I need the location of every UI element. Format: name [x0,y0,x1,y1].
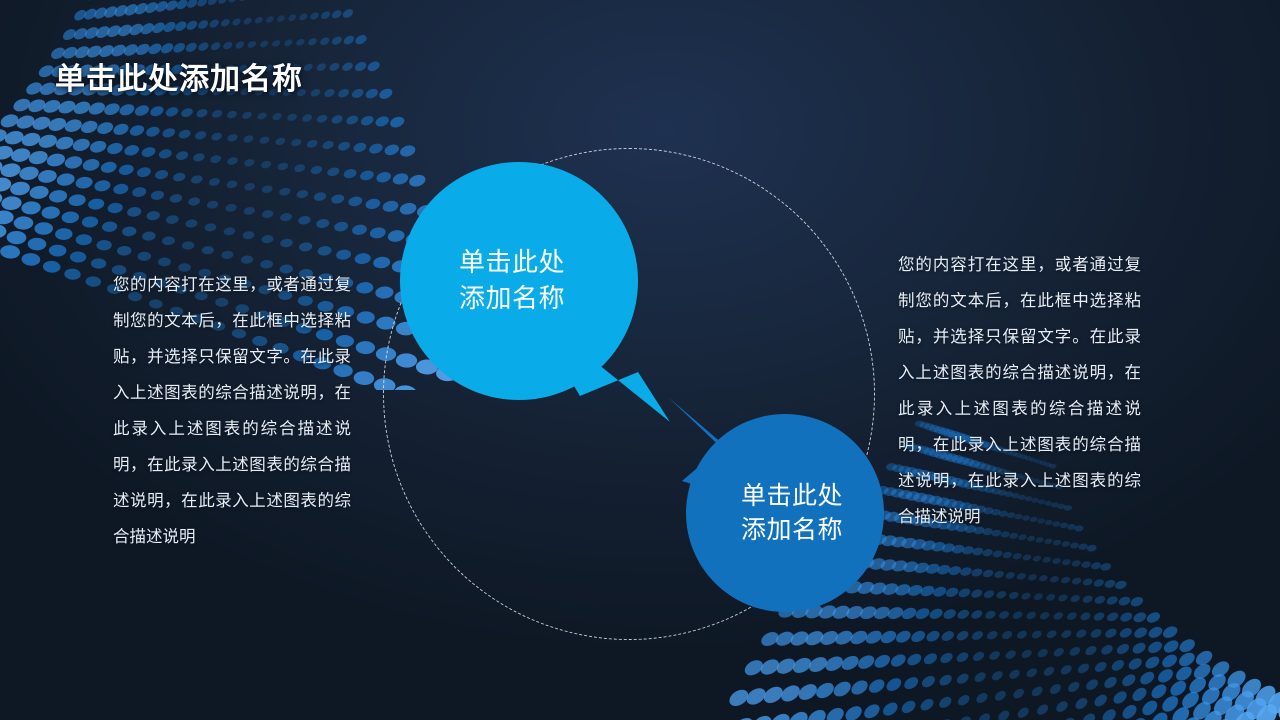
body-paragraph-left[interactable]: 您的内容打在这里，或者通过复制您的文本后，在此框中选择粘贴，并选择只保留文字。在… [113,268,351,556]
speech-bubble-secondary-body: 单击此处 添加名称 [686,414,884,612]
speech-bubble-secondary-line2: 添加名称 [727,513,843,548]
speech-bubble-secondary-line1: 单击此处 [727,479,843,514]
speech-bubble-primary-line2: 添加名称 [459,281,579,317]
page-title: 单击此处添加名称 [55,54,303,98]
speech-bubble-primary-body: 单击此处 添加名称 [400,162,638,400]
speech-bubble-primary-line1: 单击此处 [459,245,579,281]
slide-canvas: 单击此处 添加名称 单击此处 添加名称 单击此处添加名称 您的内容打在这里，或者… [0,0,1280,720]
speech-bubble-secondary[interactable]: 单击此处 添加名称 [686,414,884,612]
body-paragraph-right[interactable]: 您的内容打在这里，或者通过复制您的文本后，在此框中选择粘贴，并选择只保留文字。在… [898,248,1141,536]
speech-bubble-primary[interactable]: 单击此处 添加名称 [400,162,638,400]
